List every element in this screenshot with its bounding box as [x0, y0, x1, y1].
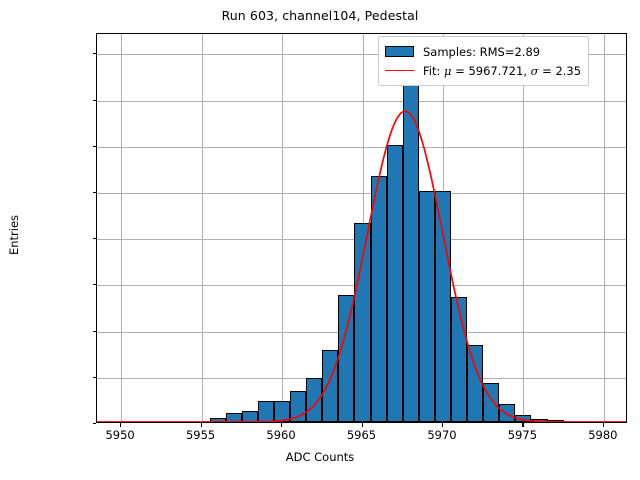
histogram-bar [354, 223, 370, 422]
y-tick-mark [93, 53, 97, 54]
legend: Samples: RMS=2.89 Fit: μ = 5967.721, σ =… [378, 36, 589, 86]
y-tick-mark [93, 146, 97, 147]
histogram-bar [322, 350, 338, 422]
histogram-bar [435, 191, 451, 422]
legend-fit-prefix: Fit: [423, 64, 444, 78]
legend-fit-mu-value: = 5967.721, [452, 64, 531, 78]
gridline-vertical [202, 34, 203, 422]
legend-fit-sigma-symbol: σ [531, 64, 539, 78]
x-tick-label: 5955 [186, 428, 215, 442]
x-tick-mark [201, 423, 202, 427]
x-tick-label: 5950 [105, 428, 134, 442]
x-tick-mark [362, 423, 363, 427]
x-tick-label: 5970 [427, 428, 456, 442]
histogram-bar [274, 401, 290, 422]
y-tick-mark [93, 377, 97, 378]
page-title: Run 603, channel104, Pedestal [0, 8, 640, 23]
y-tick-mark [93, 284, 97, 285]
x-tick-label: 5960 [266, 428, 295, 442]
histogram-bar [531, 419, 547, 422]
y-tick-mark [93, 331, 97, 332]
x-tick-mark [522, 423, 523, 427]
y-tick-mark [93, 192, 97, 193]
histogram-bar [548, 420, 564, 422]
histogram-bar [290, 391, 306, 422]
histogram-bar [403, 56, 419, 422]
x-tick-mark [281, 423, 282, 427]
gridline-vertical [604, 34, 605, 422]
gridline-vertical [121, 34, 122, 422]
histogram-bar [451, 297, 467, 422]
legend-item-fit: Fit: μ = 5967.721, σ = 2.35 [385, 61, 581, 80]
gridline-horizontal [97, 193, 626, 194]
histogram-bar [387, 145, 403, 422]
y-tick-mark [93, 100, 97, 101]
legend-swatch-fit-icon [385, 70, 414, 71]
gridline-vertical [282, 34, 283, 422]
histogram-bar [258, 401, 274, 422]
histogram-bar [483, 383, 499, 422]
histogram-bar [371, 176, 387, 422]
legend-fit-mu-symbol: μ [444, 64, 451, 78]
figure-canvas: Run 603, channel104, Pedestal 0250005000… [0, 0, 640, 480]
x-tick-label: 5965 [347, 428, 376, 442]
histogram-bar [499, 404, 515, 422]
x-tick-label: 5980 [588, 428, 617, 442]
x-axis-label: ADC Counts [0, 450, 640, 464]
gridline-horizontal [97, 147, 626, 148]
x-tick-mark [120, 423, 121, 427]
legend-label-fit: Fit: μ = 5967.721, σ = 2.35 [423, 64, 581, 78]
histogram-bar [419, 191, 435, 422]
gridline-vertical [523, 34, 524, 422]
histogram-bar [226, 413, 242, 422]
histogram-bar [338, 295, 354, 422]
histogram-bar [306, 378, 322, 422]
histogram-bar [210, 418, 226, 422]
legend-label-samples: Samples: RMS=2.89 [423, 45, 540, 59]
gridline-horizontal [97, 101, 626, 102]
histogram-bar [515, 415, 531, 422]
legend-swatch-samples-icon [385, 46, 414, 57]
legend-item-samples: Samples: RMS=2.89 [385, 42, 581, 61]
histogram-bar [467, 345, 483, 422]
x-tick-mark [603, 423, 604, 427]
x-tick-label: 5975 [508, 428, 537, 442]
y-axis-label: Entries [7, 215, 21, 255]
legend-fit-sigma-value: = 2.35 [539, 64, 582, 78]
y-tick-mark [93, 423, 97, 424]
plot-area [96, 33, 627, 423]
histogram-bar [242, 411, 258, 422]
x-tick-mark [442, 423, 443, 427]
y-tick-mark [93, 238, 97, 239]
